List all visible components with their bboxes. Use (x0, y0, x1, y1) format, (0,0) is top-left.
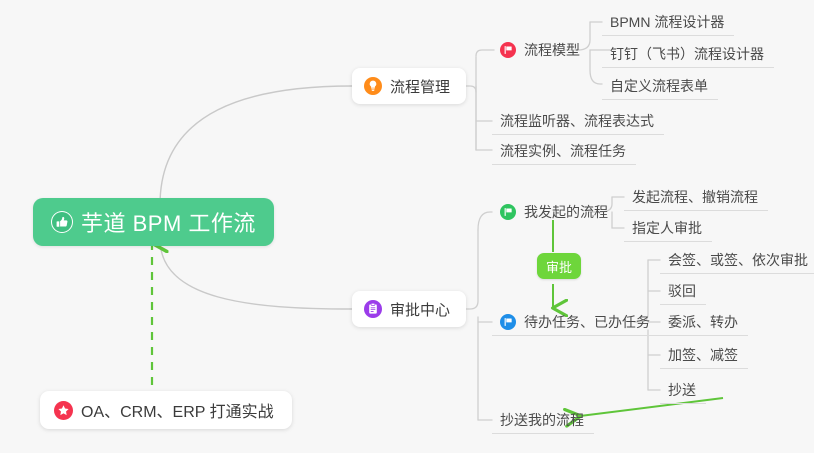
node-delegate-transfer[interactable]: 委派、转办 (660, 308, 748, 336)
node-label-process-listener-expression: 流程监听器、流程表达式 (500, 111, 654, 131)
flag-icon (500, 314, 516, 330)
root-node[interactable]: 芋道 BPM 工作流 (33, 198, 274, 246)
node-label-carbon-copy: 抄送 (668, 380, 696, 400)
node-label-process-instance-task: 流程实例、流程任务 (500, 141, 626, 161)
branch-label-process-management: 流程管理 (390, 76, 450, 97)
edge-tag-approval-label: 审批 (546, 257, 572, 276)
node-carbon-copy[interactable]: 抄送 (660, 376, 706, 404)
node-start-cancel-process[interactable]: 发起流程、撤销流程 (624, 183, 768, 211)
mindmap-canvas: 芋道 BPM 工作流 流程管理 流程模型 BPMN 流程设计器 钉钉（飞书）流程 (0, 0, 814, 453)
node-label-my-initiated-process: 我发起的流程 (524, 202, 608, 222)
node-reject[interactable]: 驳回 (660, 277, 706, 305)
branch-label-approval-center: 审批中心 (390, 299, 450, 320)
flag-icon (500, 42, 516, 58)
node-process-listener-expression[interactable]: 流程监听器、流程表达式 (492, 107, 664, 135)
edge-root-to-process-management (160, 86, 352, 205)
callout-node-label: OA、CRM、ERP 打通实战 (81, 398, 274, 422)
node-dingtalk-feishu-designer[interactable]: 钉钉（飞书）流程设计器 (602, 40, 774, 68)
node-custom-process-form[interactable]: 自定义流程表单 (602, 72, 718, 100)
callout-node-oa-crm-erp[interactable]: OA、CRM、ERP 打通实战 (40, 391, 292, 429)
node-label-bpmn-designer: BPMN 流程设计器 (610, 12, 724, 32)
star-icon (54, 401, 73, 420)
node-process-model[interactable]: 流程模型 (492, 36, 590, 64)
node-my-initiated-process[interactable]: 我发起的流程 (492, 198, 618, 226)
node-add-remove-sign[interactable]: 加签、减签 (660, 341, 748, 369)
node-label-process-model: 流程模型 (524, 40, 580, 60)
node-label-countersign-orsign-sequential: 会签、或签、依次审批 (668, 250, 808, 270)
branch-node-approval-center[interactable]: 审批中心 (352, 291, 466, 327)
branch-node-process-management[interactable]: 流程管理 (352, 68, 466, 104)
node-label-dingtalk-feishu-designer: 钉钉（飞书）流程设计器 (610, 44, 764, 64)
node-label-reject: 驳回 (668, 281, 696, 301)
node-label-start-cancel-process: 发起流程、撤销流程 (632, 187, 758, 207)
node-label-add-remove-sign: 加签、减签 (668, 345, 738, 365)
node-label-delegate-transfer: 委派、转办 (668, 312, 738, 332)
edge-model-to-custom-form (590, 50, 602, 84)
node-countersign-orsign-sequential[interactable]: 会签、或签、依次审批 (660, 246, 814, 274)
root-node-label: 芋道 BPM 工作流 (81, 206, 256, 238)
node-todo-done-tasks[interactable]: 待办任务、已办任务 (492, 308, 660, 336)
node-process-instance-task[interactable]: 流程实例、流程任务 (492, 137, 636, 165)
node-bpmn-designer[interactable]: BPMN 流程设计器 (602, 8, 734, 36)
lightbulb-icon (364, 77, 382, 95)
edge-root-to-approval-center (160, 239, 352, 309)
node-label-cc-to-me-process: 抄送我的流程 (500, 410, 584, 430)
flag-icon (500, 204, 516, 220)
node-cc-to-me-process[interactable]: 抄送我的流程 (492, 406, 594, 434)
node-label-custom-process-form: 自定义流程表单 (610, 76, 708, 96)
node-label-todo-done-tasks: 待办任务、已办任务 (524, 312, 650, 332)
edge-tag-approval[interactable]: 审批 (537, 253, 581, 279)
edge-ac-to-initiated (478, 212, 492, 230)
node-label-assignee-approval: 指定人审批 (632, 218, 702, 238)
thumbs-up-icon (51, 211, 73, 233)
clipboard-icon (364, 300, 382, 318)
node-assignee-approval[interactable]: 指定人审批 (624, 214, 712, 242)
